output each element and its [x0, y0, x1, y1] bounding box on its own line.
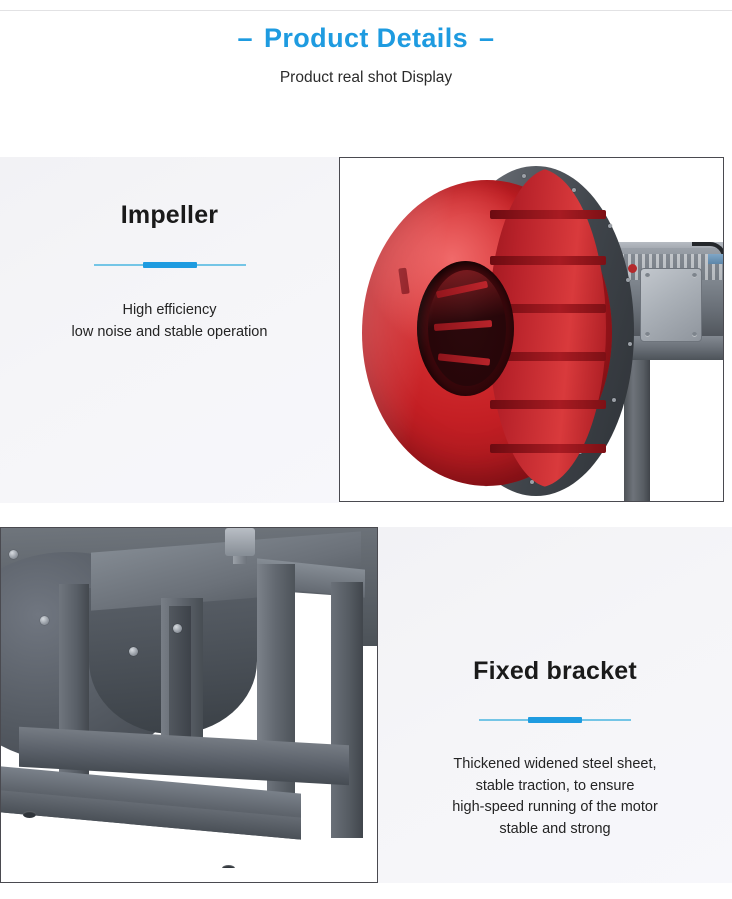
- bracket-screw: [9, 550, 18, 559]
- bracket-desc-line-1: Thickened widened steel sheet,: [452, 754, 658, 776]
- fixed-bracket-photo-inner: [1, 528, 377, 882]
- impeller-blade: [490, 444, 606, 453]
- junction-screw: [645, 273, 650, 278]
- fixed-bracket-description: Thickened widened steel sheet, stable tr…: [452, 754, 658, 840]
- hub-vane: [438, 353, 490, 365]
- fixed-bracket-photo: [0, 527, 378, 883]
- bracket-desc-line-2: stable traction, to ensure: [452, 776, 658, 798]
- rivet: [530, 480, 534, 484]
- rivet: [522, 174, 526, 178]
- impeller-photo: [339, 157, 724, 502]
- rivet: [628, 342, 632, 346]
- impeller-hub-inner: [428, 270, 506, 386]
- junction-screw: [645, 332, 650, 337]
- page-header: –Product Details– Product real shot Disp…: [0, 20, 732, 89]
- photo-floor: [1, 868, 378, 882]
- rivet: [608, 224, 612, 228]
- divider-bar: [143, 262, 197, 268]
- bracket-right-outer-column: [331, 582, 363, 838]
- impeller-desc-line-1: High efficiency: [72, 300, 268, 322]
- page-title-text: Product Details: [264, 23, 468, 53]
- hub-vane: [436, 281, 488, 299]
- impeller-divider: [94, 261, 246, 269]
- section-impeller: Impeller High efficiency low noise and s…: [0, 157, 732, 503]
- divider-bar: [528, 717, 582, 723]
- bracket-desc-line-4: stable and strong: [452, 819, 658, 841]
- impeller-photo-inner: [340, 158, 723, 501]
- product-details-page: –Product Details– Product real shot Disp…: [0, 0, 732, 899]
- hub-vane: [434, 320, 492, 331]
- fixed-bracket-heading: Fixed bracket: [473, 655, 637, 687]
- impeller-heading: Impeller: [121, 199, 218, 231]
- junction-screw: [692, 273, 697, 278]
- bracket-screw: [129, 647, 138, 656]
- junction-screw: [692, 332, 697, 337]
- fixed-bracket-divider: [479, 716, 631, 724]
- fixed-bracket-text-panel: Fixed bracket Thickened widened steel sh…: [378, 527, 732, 883]
- rivet: [626, 278, 630, 282]
- impeller-description: High efficiency low noise and stable ope…: [72, 300, 268, 343]
- bracket-screw: [40, 616, 49, 625]
- impeller-blade: [490, 400, 606, 409]
- rivet: [612, 398, 616, 402]
- impeller-text-panel: Impeller High efficiency low noise and s…: [0, 157, 339, 503]
- dash-left-icon: –: [227, 20, 264, 56]
- impeller-desc-line-2: low noise and stable operation: [72, 322, 268, 344]
- dash-right-icon: –: [468, 20, 505, 56]
- motor-blue-strip: [708, 254, 724, 264]
- impeller-blade: [490, 210, 606, 219]
- page-title: –Product Details–: [0, 20, 732, 56]
- impeller-blade: [490, 256, 606, 265]
- base-mounting-hole: [23, 811, 36, 818]
- bracket-screw: [173, 624, 182, 633]
- page-subtitle: Product real shot Display: [0, 67, 732, 89]
- bracket-desc-line-3: high-speed running of the motor: [452, 797, 658, 819]
- motor-junction-box: [640, 268, 702, 342]
- section-fixed-bracket: Fixed bracket Thickened widened steel sh…: [0, 527, 732, 883]
- top-divider-rule: [0, 10, 732, 11]
- top-bolt-cap: [225, 528, 255, 556]
